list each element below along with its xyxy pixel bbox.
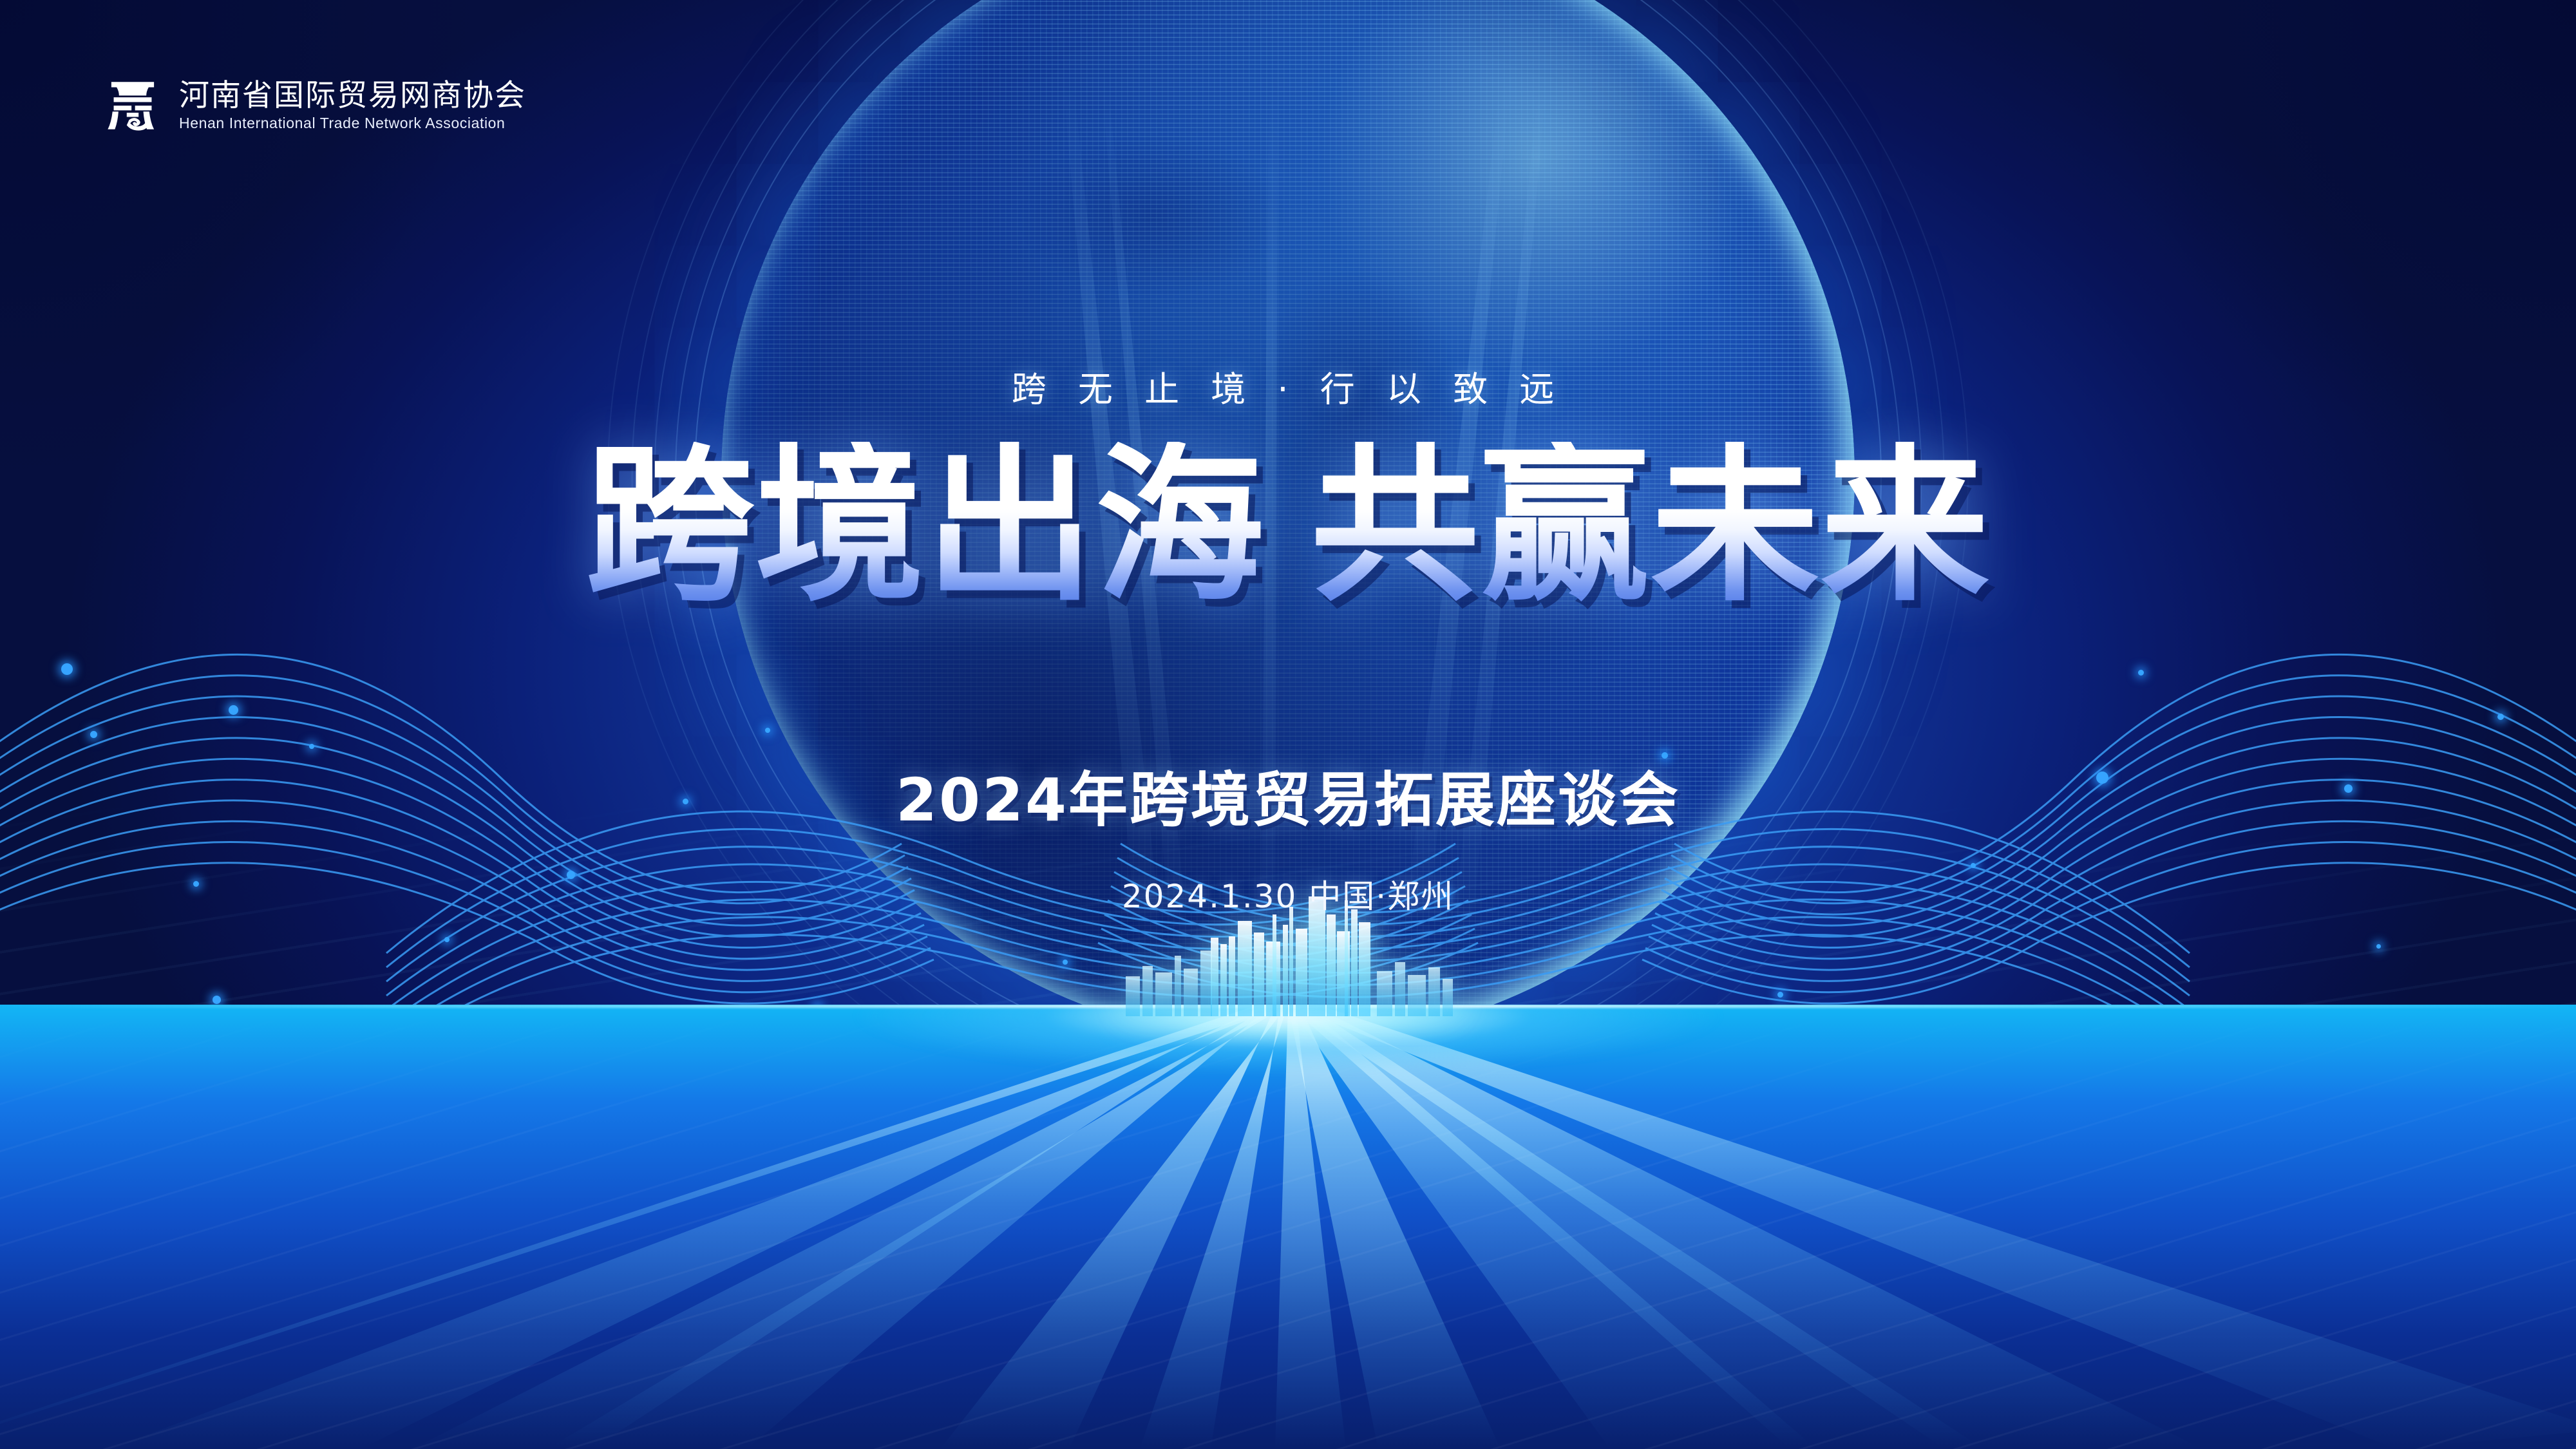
brand-text: 河南省国际贸易网商协会 Henan International Trade Ne…	[179, 80, 526, 131]
tagline: 跨 无 止 境 · 行 以 致 远	[1012, 361, 1565, 412]
henan-trade-seal-logo-icon	[103, 76, 162, 135]
event-subtitle: 2024年跨境贸易拓展座谈会	[896, 752, 1680, 838]
brand-name-cn: 河南省国际贸易网商协会	[179, 80, 526, 111]
ground-plane	[0, 1005, 2576, 1449]
brand-logo: 河南省国际贸易网商协会 Henan International Trade Ne…	[103, 76, 526, 135]
headline-segment-1: 跨境出海	[585, 442, 1265, 611]
page-title: 跨境出海共赢未来	[585, 442, 1991, 611]
brand-name-en: Henan International Trade Network Associ…	[179, 116, 526, 131]
horizon-glow	[644, 1005, 1932, 1167]
poster-canvas: 河南省国际贸易网商协会 Henan International Trade Ne…	[0, 0, 2576, 1449]
headline-segment-2: 共赢未来	[1311, 442, 1991, 611]
event-date-location: 2024.1.30 中国·郑州	[1122, 871, 1454, 917]
